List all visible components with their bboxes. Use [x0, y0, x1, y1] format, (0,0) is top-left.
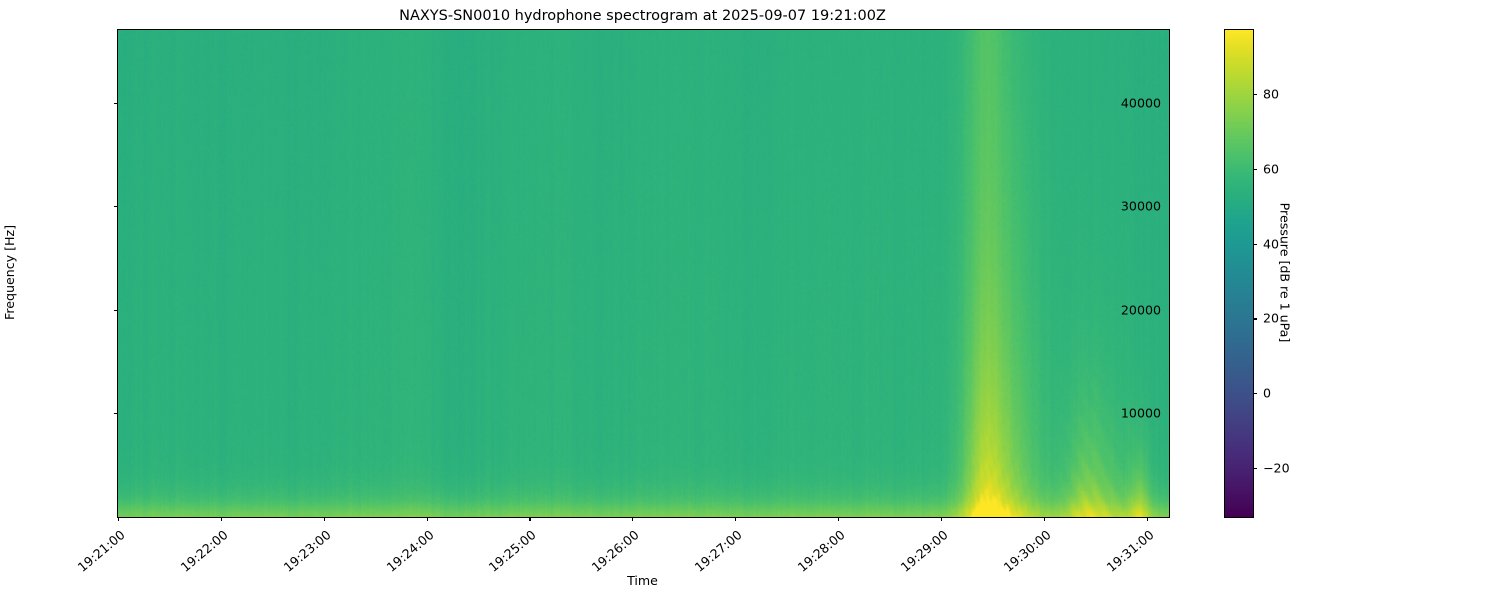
y-tick-mark	[114, 310, 118, 311]
colorbar-tick-mark	[1253, 169, 1257, 170]
y-tick-mark	[114, 103, 118, 104]
x-tick-label: 19:28:00	[795, 527, 848, 575]
colorbar: −20020406080	[1224, 29, 1254, 518]
x-tick-label: 19:23:00	[280, 527, 333, 575]
x-tick-mark	[529, 517, 530, 521]
x-tick-mark	[838, 517, 839, 521]
page-title: NAXYS-SN0010 hydrophone spectrogram at 2…	[117, 8, 1168, 24]
x-tick-mark	[221, 517, 222, 521]
x-tick-mark	[735, 517, 736, 521]
spectrogram-figure: NAXYS-SN0010 hydrophone spectrogram at 2…	[0, 0, 1500, 600]
x-tick-mark	[1147, 517, 1148, 521]
x-tick-label: 19:21:00	[75, 527, 128, 575]
colorbar-tick-mark	[1253, 468, 1257, 469]
colorbar-gradient	[1225, 30, 1253, 517]
x-tick-mark	[941, 517, 942, 521]
y-tick-label: 30000	[1121, 199, 1161, 214]
x-tick-label: 19:29:00	[898, 527, 951, 575]
y-axis-label: Frequency [Hz]	[0, 29, 18, 516]
x-tick-label: 19:25:00	[486, 527, 539, 575]
colorbar-label: Pressure [dB re 1 uPa]	[1276, 29, 1294, 516]
x-tick-label: 19:26:00	[589, 527, 642, 575]
colorbar-label-text: Pressure [dB re 1 uPa]	[1278, 203, 1293, 343]
x-tick-mark	[632, 517, 633, 521]
x-tick-mark	[1044, 517, 1045, 521]
y-tick-mark	[114, 206, 118, 207]
y-tick-label: 40000	[1121, 95, 1161, 110]
y-tick-label: 20000	[1121, 302, 1161, 317]
spectrogram-axes: 10000200003000040000 19:21:0019:22:0019:…	[117, 29, 1170, 518]
x-tick-label: 19:27:00	[692, 527, 745, 575]
colorbar-tick-label: 0	[1263, 386, 1271, 401]
colorbar-tick-mark	[1253, 318, 1257, 319]
colorbar-tick-mark	[1253, 94, 1257, 95]
y-tick-mark	[114, 413, 118, 414]
x-tick-mark	[427, 517, 428, 521]
colorbar-tick-mark	[1253, 393, 1257, 394]
x-tick-label: 19:30:00	[1000, 527, 1053, 575]
y-tick-label: 10000	[1121, 406, 1161, 421]
x-tick-mark	[324, 517, 325, 521]
x-tick-label: 19:24:00	[383, 527, 436, 575]
x-tick-mark	[118, 517, 119, 521]
colorbar-tick-mark	[1253, 244, 1257, 245]
y-axis-label-text: Frequency [Hz]	[2, 225, 17, 320]
x-tick-label: 19:31:00	[1103, 527, 1156, 575]
spectrogram-image	[118, 30, 1169, 517]
x-axis-label: Time	[117, 573, 1168, 588]
x-tick-label: 19:22:00	[178, 527, 231, 575]
